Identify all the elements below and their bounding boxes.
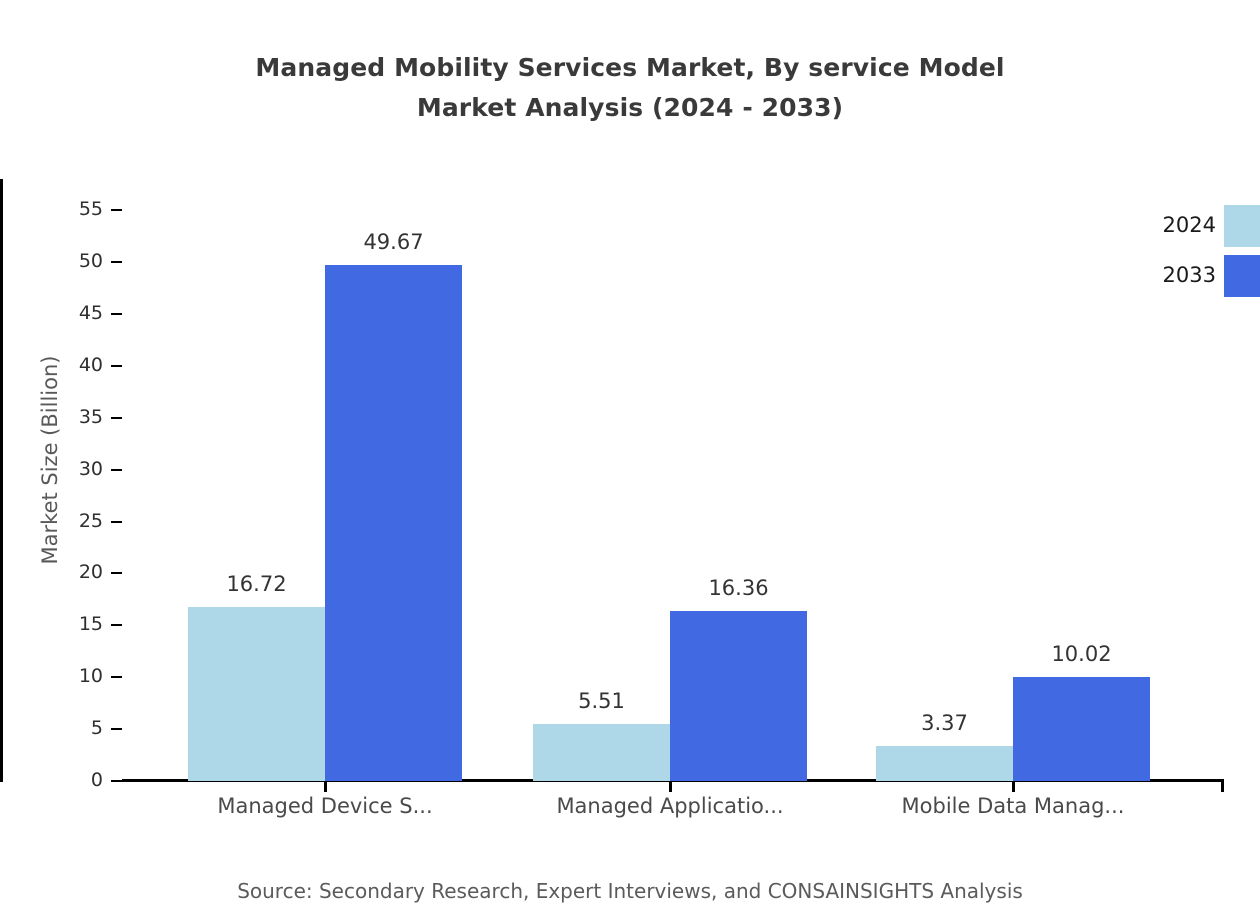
- x-tick-mark: [1012, 781, 1015, 792]
- bar-value-label: 16.72: [172, 574, 342, 595]
- bar-value-label: 10.02: [997, 644, 1167, 665]
- legend-label-2024: 2024: [1130, 215, 1216, 236]
- bar-2033-3[interactable]: [1013, 677, 1150, 781]
- bar-2033-2[interactable]: [670, 611, 807, 781]
- bar-2024-3[interactable]: [876, 746, 1013, 781]
- bar-value-label: 49.67: [309, 232, 479, 253]
- x-tick-label: Managed Device S...: [155, 793, 495, 819]
- legend-item-2033[interactable]: 2033: [1130, 255, 1260, 301]
- bar-value-label: 3.37: [860, 713, 1030, 734]
- x-axis-end-tick: [1221, 781, 1224, 792]
- legend-swatch-2024: [1224, 205, 1260, 247]
- legend-label-2033: 2033: [1130, 265, 1216, 286]
- x-tick-mark: [324, 781, 327, 792]
- x-tick-label: Mobile Data Manag...: [843, 793, 1183, 819]
- legend-item-2024[interactable]: 2024: [1130, 205, 1260, 251]
- chart-figure: Managed Mobility Services Market, By ser…: [0, 0, 1260, 920]
- x-tick-label: Managed Applicatio...: [500, 793, 840, 819]
- bar-value-label: 16.36: [654, 578, 824, 599]
- legend-swatch-2033: [1224, 255, 1260, 297]
- x-tick-mark: [669, 781, 672, 792]
- bar-value-label: 5.51: [517, 691, 687, 712]
- bar-2033-1[interactable]: [325, 265, 462, 781]
- chart-legend: 2024 2033: [1130, 205, 1260, 305]
- source-note: Source: Secondary Research, Expert Inter…: [0, 878, 1260, 904]
- bar-2024-2[interactable]: [533, 724, 670, 781]
- bar-group-container: 16.725.513.3749.6716.3610.02: [0, 0, 1260, 781]
- bar-2024-1[interactable]: [188, 607, 325, 781]
